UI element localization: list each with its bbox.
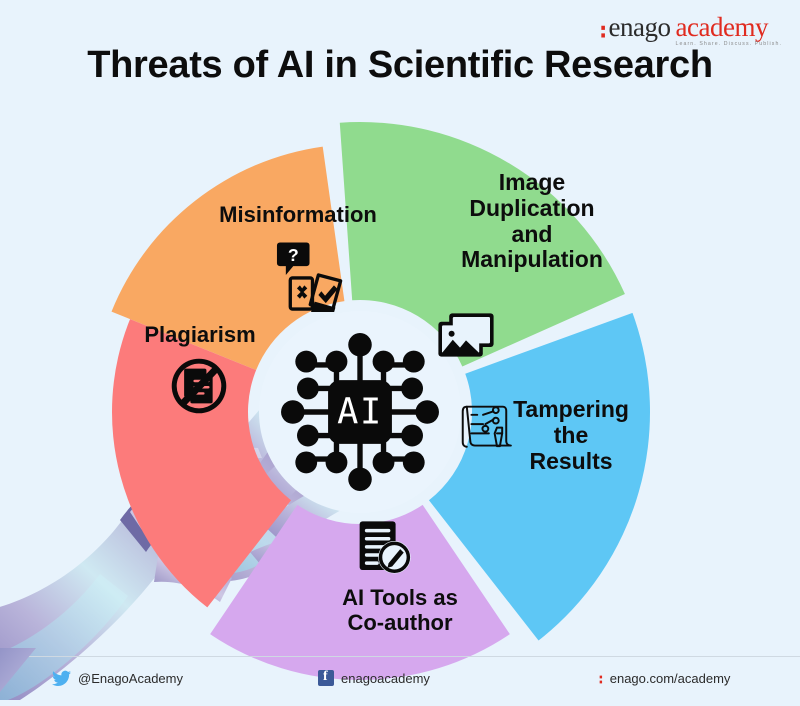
footer-bar: @EnagoAcademy enagoacademy ։ enago.com/a… (0, 656, 800, 700)
footer-website[interactable]: ։ enago.com/academy (598, 668, 730, 688)
ai-chip-label: AI (337, 392, 383, 433)
facebook-icon (318, 670, 334, 686)
footer-divider (0, 656, 800, 657)
twitter-icon (52, 670, 71, 687)
enago-mark-icon: ։ (598, 668, 603, 688)
footer-twitter[interactable]: @EnagoAcademy (52, 670, 183, 687)
infographic-canvas: ։ enago academy Learn. Share. Discuss. P… (0, 0, 800, 700)
facebook-handle: enagoacademy (341, 671, 430, 686)
footer-facebook[interactable]: enagoacademy (318, 670, 430, 686)
website-url: enago.com/academy (610, 671, 731, 686)
ai-chip-icon: AI (276, 328, 444, 496)
twitter-handle: @EnagoAcademy (78, 671, 183, 686)
